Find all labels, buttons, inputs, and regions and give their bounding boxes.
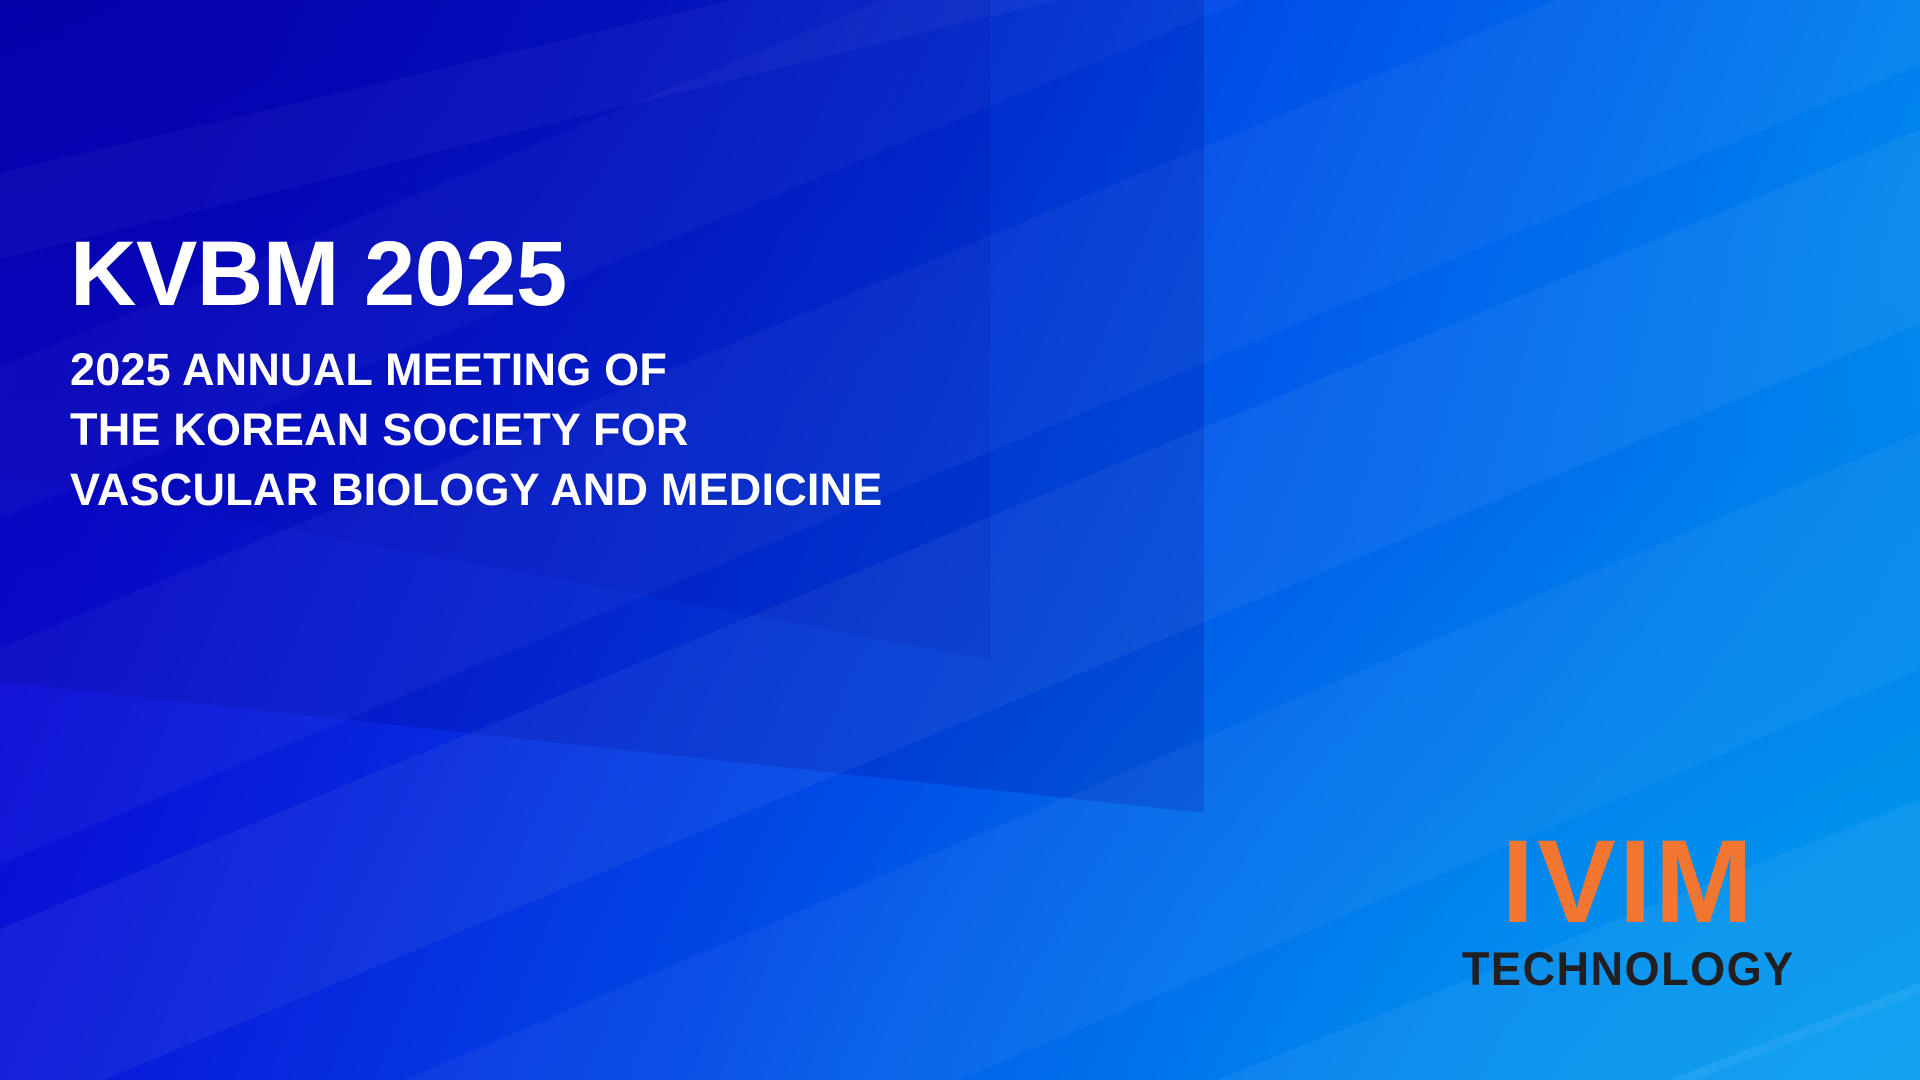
subtitle-line-1: 2025 ANNUAL MEETING OF bbox=[70, 340, 883, 400]
ivim-tagline: TECHNOLOGY bbox=[1462, 945, 1795, 992]
ivim-technology-logo: IVIM TECHNOLOGY bbox=[1455, 834, 1802, 992]
event-subtitle: 2025 ANNUAL MEETING OF THE KOREAN SOCIET… bbox=[70, 340, 883, 520]
subtitle-line-3: VASCULAR BIOLOGY AND MEDICINE bbox=[70, 460, 883, 520]
banner-text-block: KVBM 2025 2025 ANNUAL MEETING OF THE KOR… bbox=[70, 228, 883, 520]
subtitle-line-2: THE KOREAN SOCIETY FOR bbox=[70, 400, 883, 460]
ivim-wordmark: IVIM bbox=[1455, 834, 1802, 931]
event-title: KVBM 2025 bbox=[70, 228, 883, 320]
conference-banner: KVBM 2025 2025 ANNUAL MEETING OF THE KOR… bbox=[0, 0, 1920, 1080]
